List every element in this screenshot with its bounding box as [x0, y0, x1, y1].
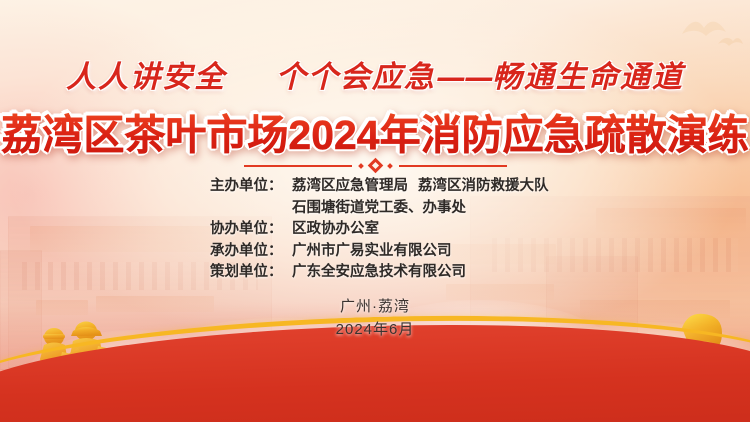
organizer-value: 石围塘街道党工委、办事处: [210, 198, 540, 220]
organizer-row: 协办单位：区政协办公室: [0, 219, 750, 241]
organizer-row: 策划单位：广东全安应急技术有限公司: [0, 262, 750, 284]
divider-dot-right: [387, 163, 393, 169]
organizer-label: 承办单位：: [210, 241, 292, 263]
organizer-value: 广州市广易实业有限公司: [292, 243, 452, 259]
organizer-row: 承办单位：广州市广易实业有限公司: [0, 241, 750, 263]
date-text: 2024年6月: [0, 318, 750, 342]
organizer-label: 策划单位：: [210, 262, 292, 284]
poster-slogan: 人人讲安全 个个会应急——畅通生命通道: [0, 52, 750, 96]
organizers-block: 主办单位：荔湾区应急管理局荔湾区消防救援大队 石围塘街道党工委、办事处 协办单位…: [0, 176, 750, 284]
page-title: 荔湾区茶叶市场2024年消防应急疏散演练: [0, 101, 750, 161]
place-text: 广州·荔湾: [0, 296, 750, 318]
organizer-label: 协办单位：: [210, 219, 292, 241]
slogan-part2: 个个会应急: [276, 60, 436, 95]
divider-line-left: [244, 165, 352, 167]
decorative-divider: [0, 160, 750, 171]
slogan-dash: ——: [436, 60, 492, 95]
organizer-row: 石围塘街道党工委、办事处: [0, 198, 750, 220]
slogan-part3: 畅通生命通道: [492, 60, 684, 95]
divider-line-right: [399, 165, 507, 167]
place-and-date-block: 广州·荔湾 2024年6月: [0, 296, 750, 342]
organizer-row: 主办单位：荔湾区应急管理局荔湾区消防救援大队: [0, 176, 750, 198]
organizer-value-secondary: 荔湾区消防救援大队: [418, 178, 549, 194]
organizer-value: 广东全安应急技术有限公司: [292, 264, 466, 280]
organizer-value: 区政协办公室: [292, 221, 379, 237]
fire-drill-poster: 人人讲安全 个个会应急——畅通生命通道 荔湾区茶叶市场2024年消防应急疏散演练…: [0, 0, 750, 422]
slogan-part1: 人人讲安全: [66, 60, 226, 95]
divider-dot-left: [358, 163, 364, 169]
divider-diamond-icon: [367, 158, 383, 174]
organizer-value: 荔湾区应急管理局: [292, 178, 408, 194]
organizer-label: 主办单位：: [210, 176, 292, 198]
